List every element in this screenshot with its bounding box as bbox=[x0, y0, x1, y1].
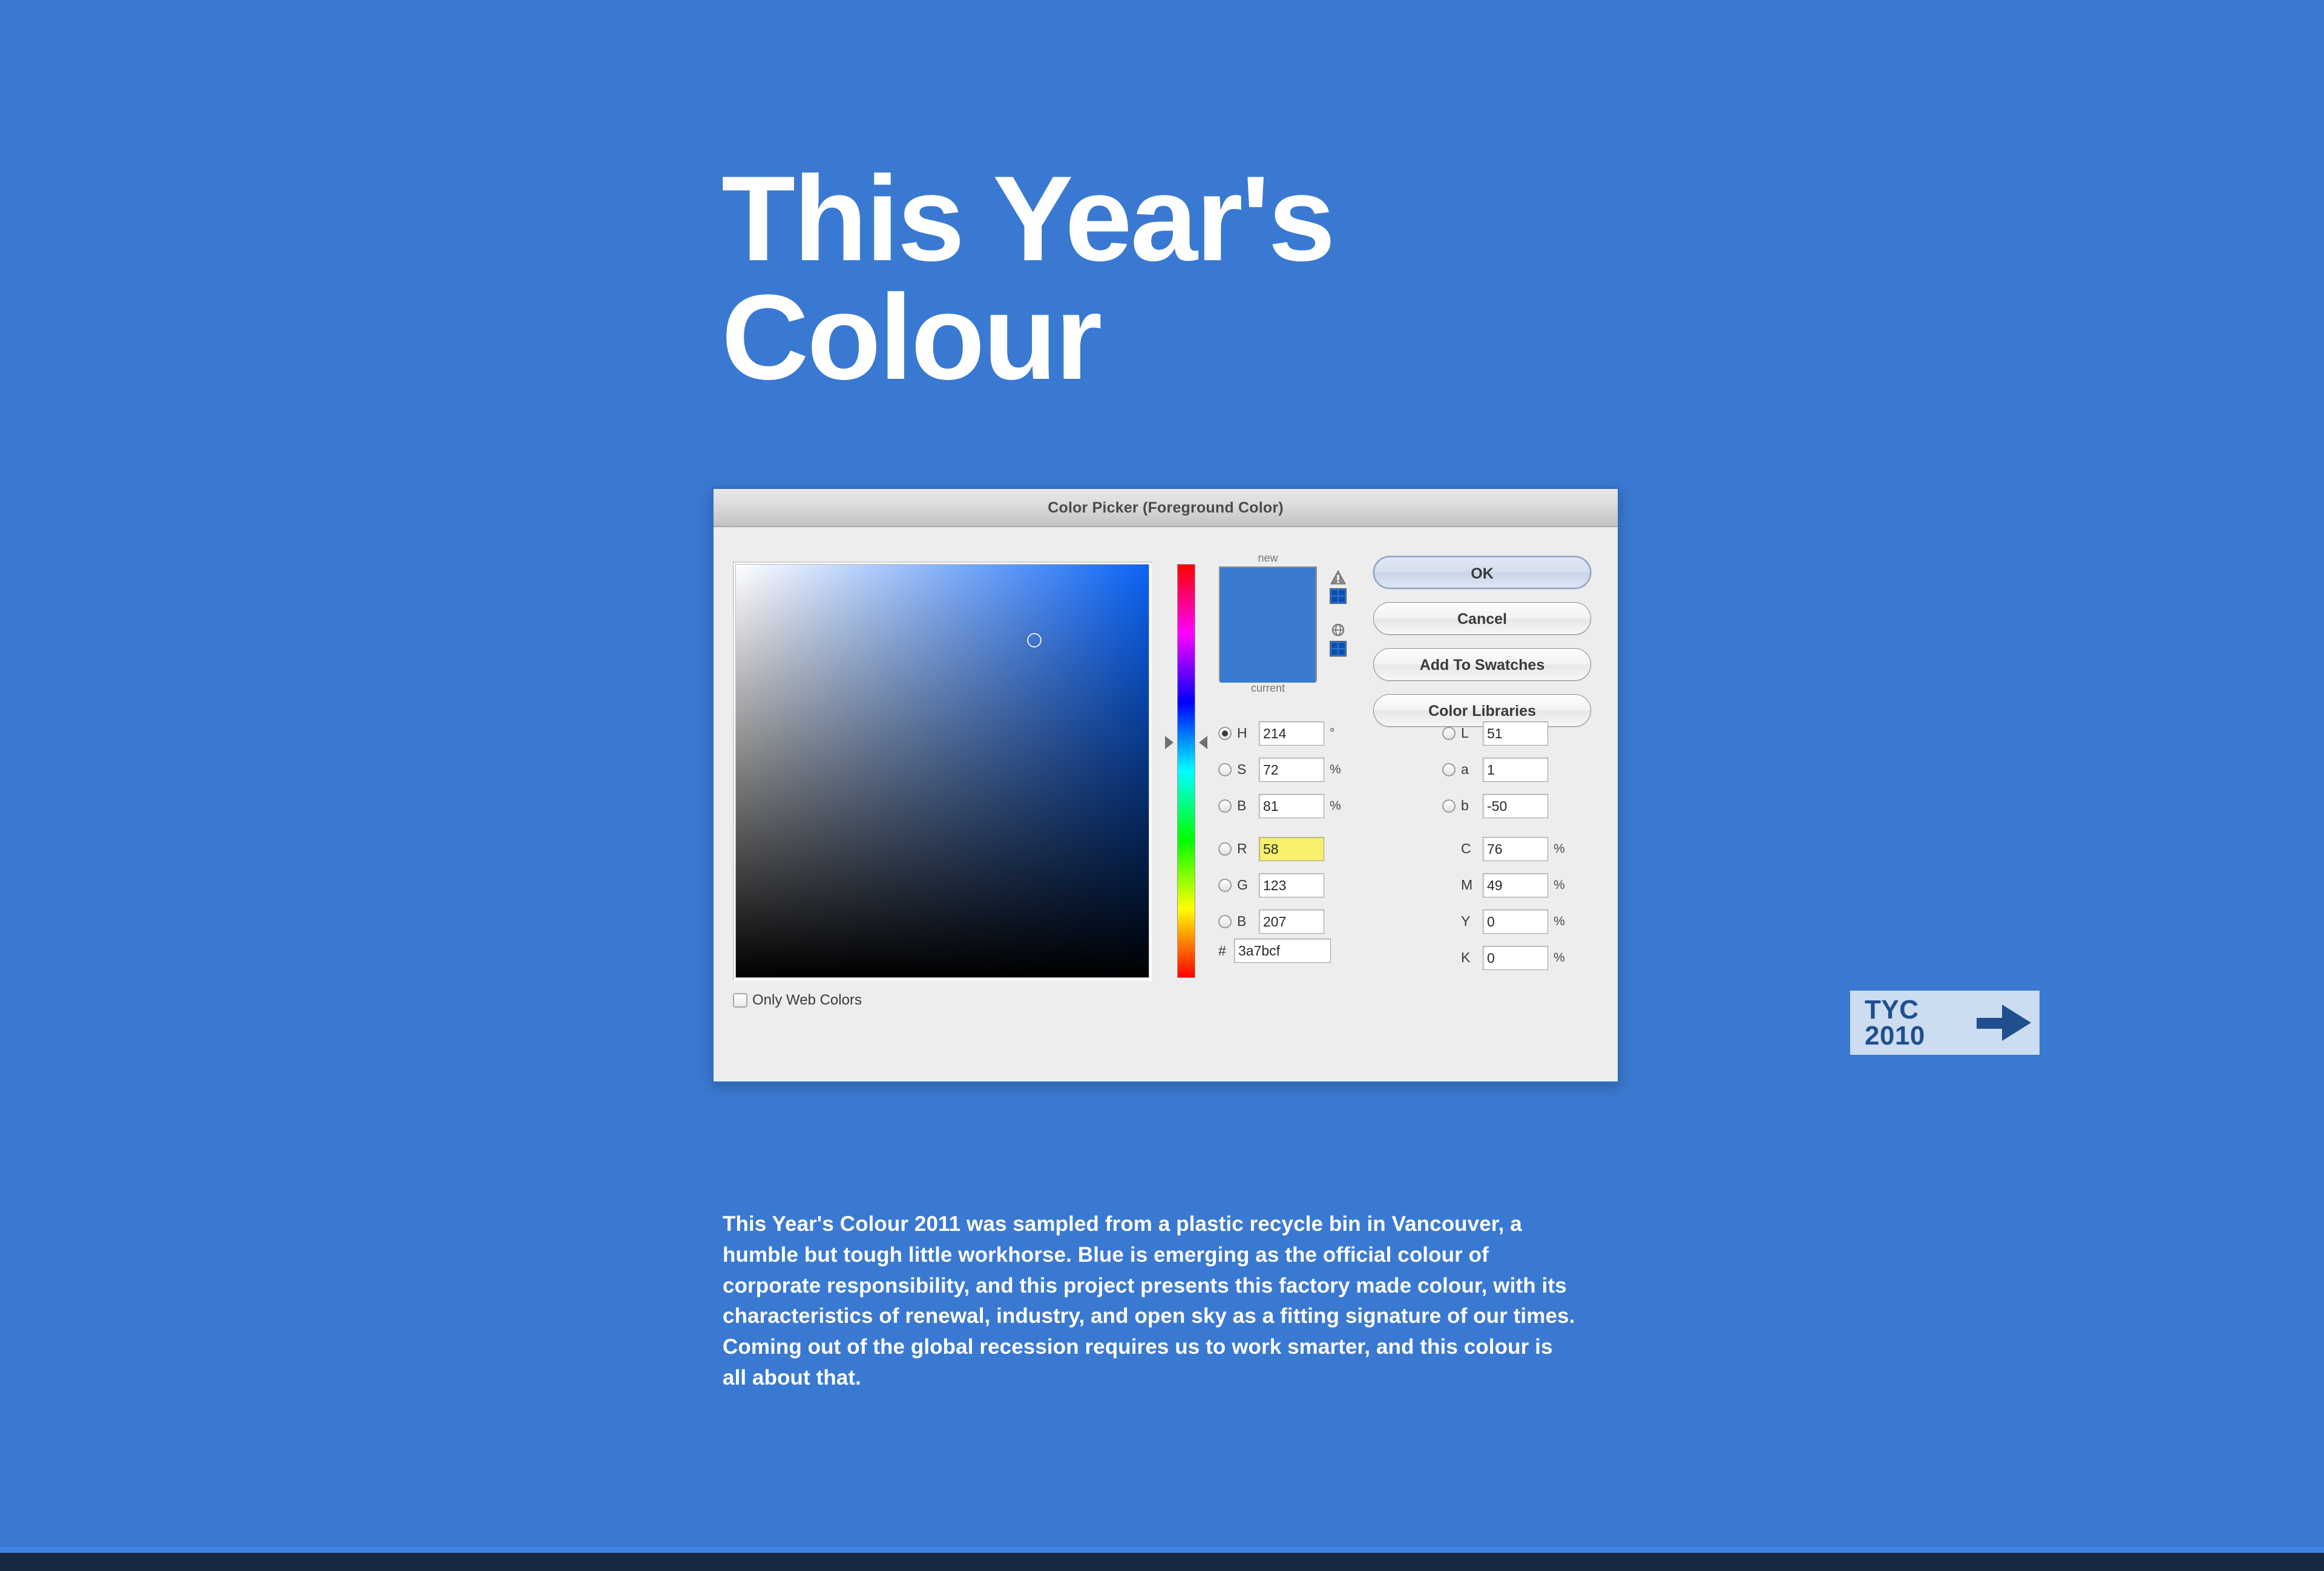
warning-triangle-icon bbox=[1330, 569, 1346, 586]
saturation-brightness-field[interactable] bbox=[733, 562, 1152, 980]
radio-lab-a[interactable] bbox=[1442, 763, 1456, 776]
field-row-brightness[interactable]: B 81 % bbox=[1218, 792, 1400, 819]
input-hex[interactable]: 3a7bcf bbox=[1234, 939, 1331, 963]
input-yellow[interactable]: 0 bbox=[1483, 910, 1548, 934]
preview-swatch-stack[interactable] bbox=[1219, 566, 1317, 681]
project-description: This Year's Colour 2011 was sampled from… bbox=[723, 1209, 1582, 1394]
input-lab-b[interactable]: -50 bbox=[1483, 794, 1548, 818]
sb-gradient[interactable] bbox=[735, 564, 1149, 978]
hue-slider[interactable] bbox=[1173, 564, 1199, 978]
dialog-body: new current bbox=[714, 527, 1618, 1081]
label-lab-b: b bbox=[1461, 798, 1483, 814]
input-cyan[interactable]: 76 bbox=[1483, 837, 1548, 861]
color-preview: new current bbox=[1216, 551, 1320, 695]
label-hue: H bbox=[1237, 725, 1259, 741]
field-row-yellow[interactable]: Y 0 % bbox=[1442, 908, 1636, 935]
only-web-colors-checkbox[interactable] bbox=[733, 993, 747, 1008]
field-row-lab-l[interactable]: L 51 bbox=[1442, 720, 1636, 747]
spacer-yellow bbox=[1442, 915, 1456, 928]
label-lab-l: L bbox=[1461, 725, 1483, 741]
spacer-magenta bbox=[1442, 879, 1456, 892]
field-row-cyan[interactable]: C 76 % bbox=[1442, 835, 1636, 862]
radio-blue[interactable] bbox=[1218, 915, 1232, 928]
field-row-magenta[interactable]: M 49 % bbox=[1442, 871, 1636, 899]
color-alerts bbox=[1326, 569, 1350, 675]
hex-field-row[interactable]: # 3a7bcf bbox=[1218, 939, 1331, 963]
label-saturation: S bbox=[1237, 761, 1259, 778]
tyc-badge-label: TYC 2010 bbox=[1865, 997, 1925, 1049]
hue-marker-right-icon[interactable] bbox=[1199, 736, 1207, 749]
radio-lab-b[interactable] bbox=[1442, 799, 1456, 813]
radio-lab-l[interactable] bbox=[1442, 727, 1456, 740]
input-hue[interactable]: 214 bbox=[1259, 721, 1324, 746]
add-to-swatches-button[interactable]: Add To Swatches bbox=[1373, 648, 1591, 681]
radio-saturation[interactable] bbox=[1218, 763, 1232, 776]
label-magenta: M bbox=[1461, 877, 1483, 893]
dialog-buttons: OK Cancel Add To Swatches Color Librarie… bbox=[1373, 556, 1591, 740]
label-black: K bbox=[1461, 949, 1483, 966]
input-green[interactable]: 123 bbox=[1259, 873, 1324, 897]
web-safe-substitute-swatch[interactable] bbox=[1330, 641, 1347, 657]
ok-button[interactable]: OK bbox=[1373, 556, 1591, 589]
spacer-cyan bbox=[1442, 842, 1456, 856]
cancel-button[interactable]: Cancel bbox=[1373, 602, 1591, 635]
field-row-hue[interactable]: H 214 ° bbox=[1218, 720, 1400, 747]
label-blue: B bbox=[1237, 913, 1259, 930]
tyc-2010-badge[interactable]: TYC 2010 bbox=[1850, 991, 2040, 1055]
unit-hue: ° bbox=[1330, 726, 1343, 741]
unit-magenta: % bbox=[1554, 878, 1567, 893]
input-red[interactable]: 58 bbox=[1259, 837, 1324, 861]
only-web-colors-label: Only Web Colors bbox=[752, 992, 862, 1009]
arrow-right-icon bbox=[1975, 1001, 2033, 1045]
radio-brightness[interactable] bbox=[1218, 799, 1232, 813]
input-saturation[interactable]: 72 bbox=[1259, 758, 1324, 782]
color-picker-dialog: Color Picker (Foreground Color) new curr… bbox=[712, 487, 1620, 1083]
unit-cyan: % bbox=[1554, 842, 1567, 856]
preview-current-swatch[interactable] bbox=[1220, 625, 1316, 683]
field-row-black[interactable]: K 0 % bbox=[1442, 944, 1636, 971]
out-of-gamut-alert[interactable] bbox=[1326, 569, 1350, 604]
radio-green[interactable] bbox=[1218, 879, 1232, 892]
lab-cmyk-column: L 51 a 1 b -50 C bbox=[1442, 720, 1636, 980]
page-title: This Year's Colour bbox=[721, 160, 1690, 397]
unit-saturation: % bbox=[1330, 763, 1343, 777]
label-cyan: C bbox=[1461, 841, 1483, 857]
web-cube-icon bbox=[1330, 622, 1346, 639]
unit-black: % bbox=[1554, 951, 1567, 965]
only-web-colors-row[interactable]: Only Web Colors bbox=[733, 992, 862, 1009]
preview-current-label: current bbox=[1216, 681, 1320, 695]
hue-gradient-bar[interactable] bbox=[1177, 564, 1195, 978]
input-lab-a[interactable]: 1 bbox=[1483, 758, 1548, 782]
label-yellow: Y bbox=[1461, 913, 1483, 930]
preview-new-label: new bbox=[1216, 551, 1320, 565]
field-row-green[interactable]: G 123 bbox=[1218, 871, 1400, 899]
field-row-lab-a[interactable]: a 1 bbox=[1442, 756, 1636, 783]
radio-red[interactable] bbox=[1218, 842, 1232, 856]
gamut-substitute-swatch[interactable] bbox=[1330, 588, 1347, 604]
hsb-rgb-column: H 214 ° S 72 % B 81 % bbox=[1218, 720, 1400, 944]
label-lab-a: a bbox=[1461, 761, 1483, 778]
label-hex: # bbox=[1218, 943, 1234, 959]
label-red: R bbox=[1237, 841, 1259, 857]
field-row-red[interactable]: R 58 bbox=[1218, 835, 1400, 862]
sb-selection-marker[interactable] bbox=[1027, 633, 1042, 648]
input-black[interactable]: 0 bbox=[1483, 946, 1548, 970]
input-magenta[interactable]: 49 bbox=[1483, 873, 1548, 897]
label-green: G bbox=[1237, 877, 1259, 893]
field-row-saturation[interactable]: S 72 % bbox=[1218, 756, 1400, 783]
input-brightness[interactable]: 81 bbox=[1259, 794, 1324, 818]
spacer-black bbox=[1442, 951, 1456, 965]
bottom-bar bbox=[0, 1553, 2324, 1571]
field-row-lab-b[interactable]: b -50 bbox=[1442, 792, 1636, 819]
unit-brightness: % bbox=[1330, 799, 1343, 813]
label-brightness: B bbox=[1237, 798, 1259, 814]
non-web-safe-alert[interactable] bbox=[1326, 622, 1350, 657]
hue-marker-left-icon[interactable] bbox=[1165, 736, 1173, 749]
radio-hue[interactable] bbox=[1218, 727, 1232, 740]
input-blue[interactable]: 207 bbox=[1259, 910, 1324, 934]
dialog-title: Color Picker (Foreground Color) bbox=[1048, 499, 1284, 517]
dialog-titlebar[interactable]: Color Picker (Foreground Color) bbox=[714, 489, 1618, 527]
field-row-blue[interactable]: B 207 bbox=[1218, 908, 1400, 935]
preview-new-swatch[interactable] bbox=[1220, 568, 1316, 625]
bottom-accent-line bbox=[0, 1547, 2324, 1553]
input-lab-l[interactable]: 51 bbox=[1483, 721, 1548, 746]
unit-yellow: % bbox=[1554, 914, 1567, 929]
